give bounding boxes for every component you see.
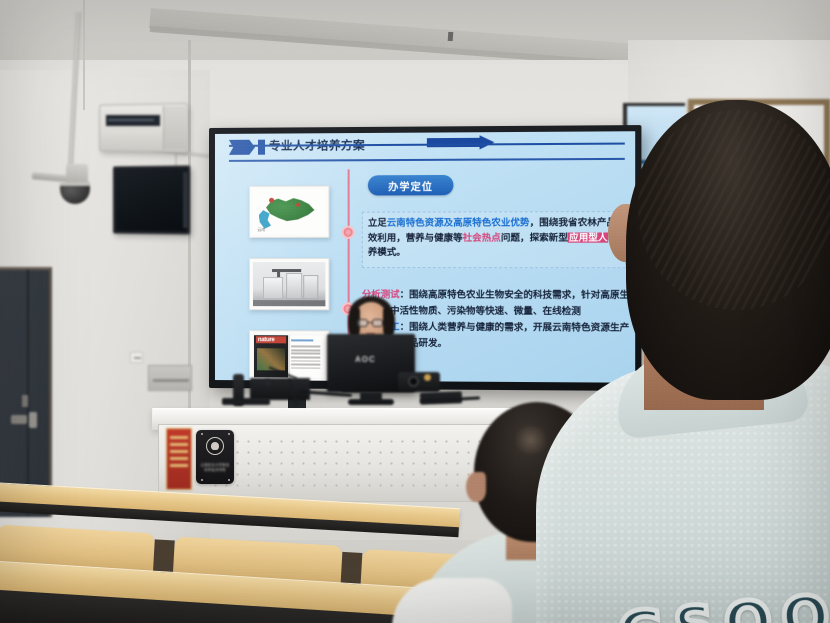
map-marker-icon: [269, 198, 274, 203]
vent-box: [148, 365, 192, 391]
banner-text-lines: [170, 436, 188, 471]
jacket-letter: G: [616, 603, 667, 623]
microphone-head-icon: [264, 379, 271, 386]
air-conditioner-louver: [108, 119, 154, 121]
plaque-label: 云南农业大学食品科学技术学院: [199, 462, 231, 472]
photo-scene: 专业人才培养方案 云南: [0, 0, 830, 623]
audience-center-hair-swirl: [512, 426, 550, 454]
monitor-brand-label: AOC: [355, 355, 376, 364]
paragraph-seg-blue: 高原特色农业优势: [453, 217, 529, 227]
jacket-letter: O: [779, 588, 830, 623]
thumbnail-lab-instrument: [249, 258, 329, 310]
monitor-base: [348, 399, 394, 405]
presentation-screen: 专业人才培养方案 云南: [209, 125, 641, 391]
door-lock-icon: [22, 395, 28, 407]
section-badge-label: 办学定位: [388, 178, 433, 193]
speaker-bar: [250, 378, 310, 400]
wall-monitor: [113, 165, 190, 234]
paragraph-seg: 问题，探索新型: [501, 232, 568, 242]
presenter-glasses-icon: [372, 319, 383, 327]
presenter-glasses-icon: [357, 319, 368, 327]
door-handle[interactable]: [11, 415, 27, 424]
audience-right-hair-texture: [638, 110, 830, 310]
university-emblem-icon: [206, 437, 224, 455]
title-chevron-icon: [229, 140, 255, 155]
presenter-glasses-bridge: [368, 322, 372, 323]
camera-knob[interactable]: [424, 374, 431, 381]
wall-outlet-icon: [130, 352, 143, 363]
paragraph-seg: 立足: [368, 218, 387, 228]
journal-masthead: nature: [256, 336, 286, 344]
slide-title-rule-secondary: [229, 158, 625, 162]
camera-lens-icon: [408, 376, 419, 387]
wall-monitor-edge: [183, 172, 188, 228]
entry-door[interactable]: [0, 267, 52, 517]
thumbnail-yunnan-map: 云南: [249, 186, 329, 238]
thumbnail-caption: 云南: [257, 227, 265, 233]
jacket-letter: S: [672, 598, 717, 623]
audience-center-ear: [466, 472, 486, 502]
paragraph-seg-pink: 社会热点: [463, 232, 501, 242]
paragraph-seg-blue: 云南特色资源及: [387, 217, 453, 227]
door-split-line: [27, 270, 29, 515]
title-tick-icon: [258, 140, 265, 155]
camera-rig: [398, 372, 440, 392]
door-handle-secondary[interactable]: [29, 412, 37, 428]
air-conditioner-side: [163, 106, 187, 150]
desk-tray: [222, 398, 270, 405]
timeline-dot-icon: [342, 226, 355, 239]
section-badge: 办学定位: [368, 175, 454, 196]
slide-surface: 专业人才培养方案 云南: [215, 131, 635, 382]
jacket-letter: O: [722, 593, 774, 623]
ceiling-clip: [448, 32, 454, 41]
wall-seam: [83, 0, 85, 110]
slide: 专业人才培养方案 云南: [215, 131, 635, 382]
audience-member-right: G S O O: [586, 100, 830, 623]
